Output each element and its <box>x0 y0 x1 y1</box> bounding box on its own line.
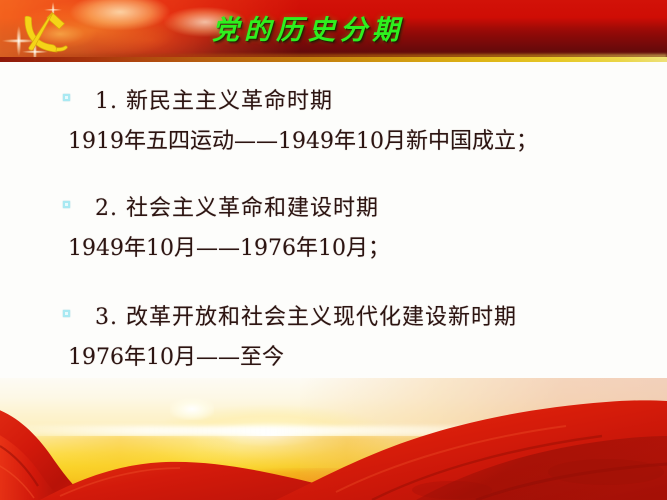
hammer-and-sickle-icon <box>16 6 72 58</box>
sun-core-highlight <box>170 398 214 420</box>
bullet-detail-3: 1976年10月——至今 <box>68 338 667 378</box>
bullet-block-1: 1. 新民主主义革命时期 1919年五四运动——1949年10月新中国成立； <box>0 82 667 162</box>
bottom-decoration <box>0 378 667 500</box>
bullet-dot-icon-2 <box>63 201 70 208</box>
bullet-detail-1: 1919年五四运动——1949年10月新中国成立； <box>68 122 667 162</box>
bullet-dot-icon-3 <box>63 310 70 317</box>
bullet-heading-1: 1. 新民主主义革命时期 <box>95 82 667 122</box>
header-banner: 党的历史分期 <box>0 0 667 62</box>
slide-title: 党的历史分期 <box>183 10 433 52</box>
bullet-heading-2: 2. 社会主义革命和建设时期 <box>95 189 667 229</box>
bullet-detail-2: 1949年10月——1976年10月； <box>68 229 667 269</box>
bullet-block-2: 2. 社会主义革命和建设时期 1949年10月——1976年10月； <box>0 189 667 269</box>
slide-root: 党的历史分期 1. 新民主主义革命时期 1919年五四运动——1949年10月新… <box>0 0 667 500</box>
bullet-dot-icon-1 <box>63 94 70 101</box>
bullet-heading-3: 3. 改革开放和社会主义现代化建设新时期 <box>95 298 667 338</box>
bullet-block-3: 3. 改革开放和社会主义现代化建设新时期 1976年10月——至今 <box>0 298 667 378</box>
horizon-light-band <box>0 426 667 436</box>
orange-glow <box>210 468 470 500</box>
